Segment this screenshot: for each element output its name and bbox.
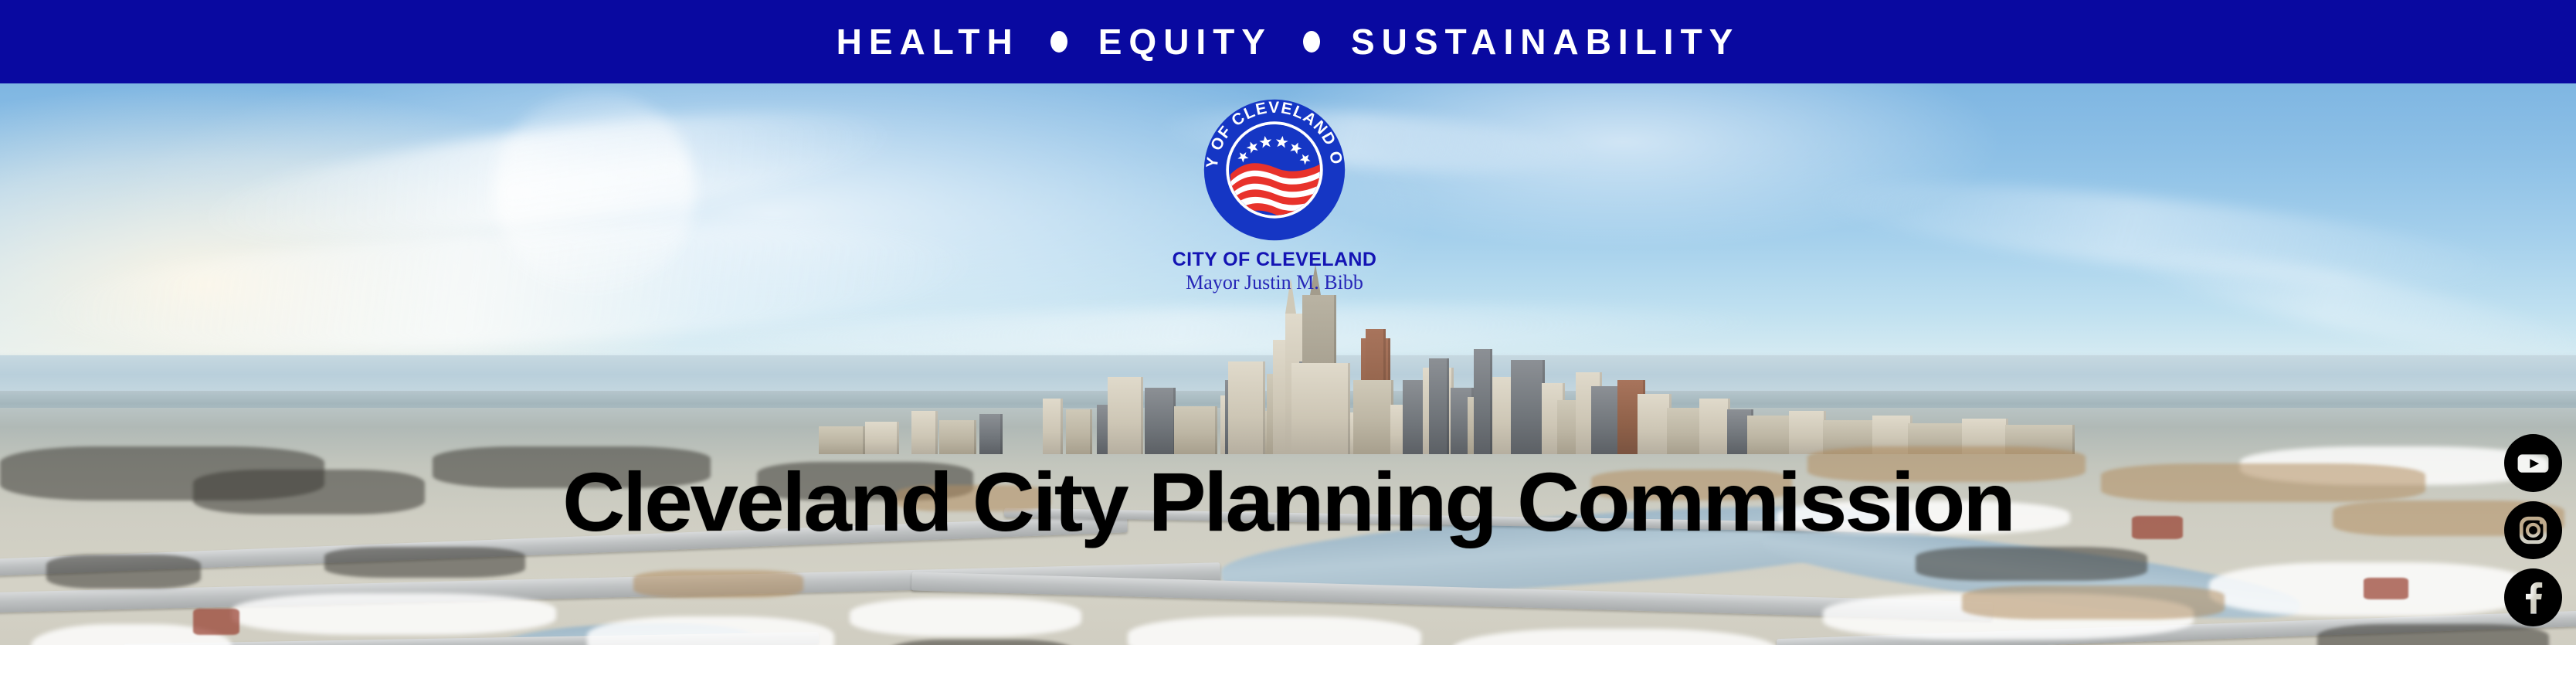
dot-separator-icon (1303, 31, 1320, 53)
city-of-cleveland-branding: CITY OF CLEVELAND OHIO (1074, 97, 1475, 293)
page-title: Cleveland City Planning Commission (0, 460, 2576, 544)
dot-separator-icon (1050, 31, 1067, 53)
youtube-icon[interactable] (2504, 434, 2562, 492)
downtown-skyline (0, 315, 2576, 454)
footer-white-strip (0, 645, 2576, 682)
tagline-word-health: HEALTH (833, 24, 1023, 59)
org-name: CITY OF CLEVELAND (1074, 249, 1475, 270)
cleveland-planning-commission-banner: HEALTH EQUITY SUSTAINABILITY (0, 0, 2576, 682)
mayor-name: Mayor Justin M. Bibb (1074, 272, 1475, 293)
tagline-word-sustainability: SUSTAINABILITY (1348, 24, 1743, 59)
social-links (2503, 434, 2562, 626)
tagline-word-equity: EQUITY (1095, 24, 1275, 59)
tagline-bar: HEALTH EQUITY SUSTAINABILITY (0, 0, 2576, 83)
tagline-text: HEALTH EQUITY SUSTAINABILITY (833, 24, 1743, 59)
facebook-icon[interactable] (2504, 568, 2562, 626)
instagram-icon[interactable] (2504, 501, 2562, 559)
city-of-cleveland-seal-icon: CITY OF CLEVELAND OHIO (1201, 97, 1348, 243)
